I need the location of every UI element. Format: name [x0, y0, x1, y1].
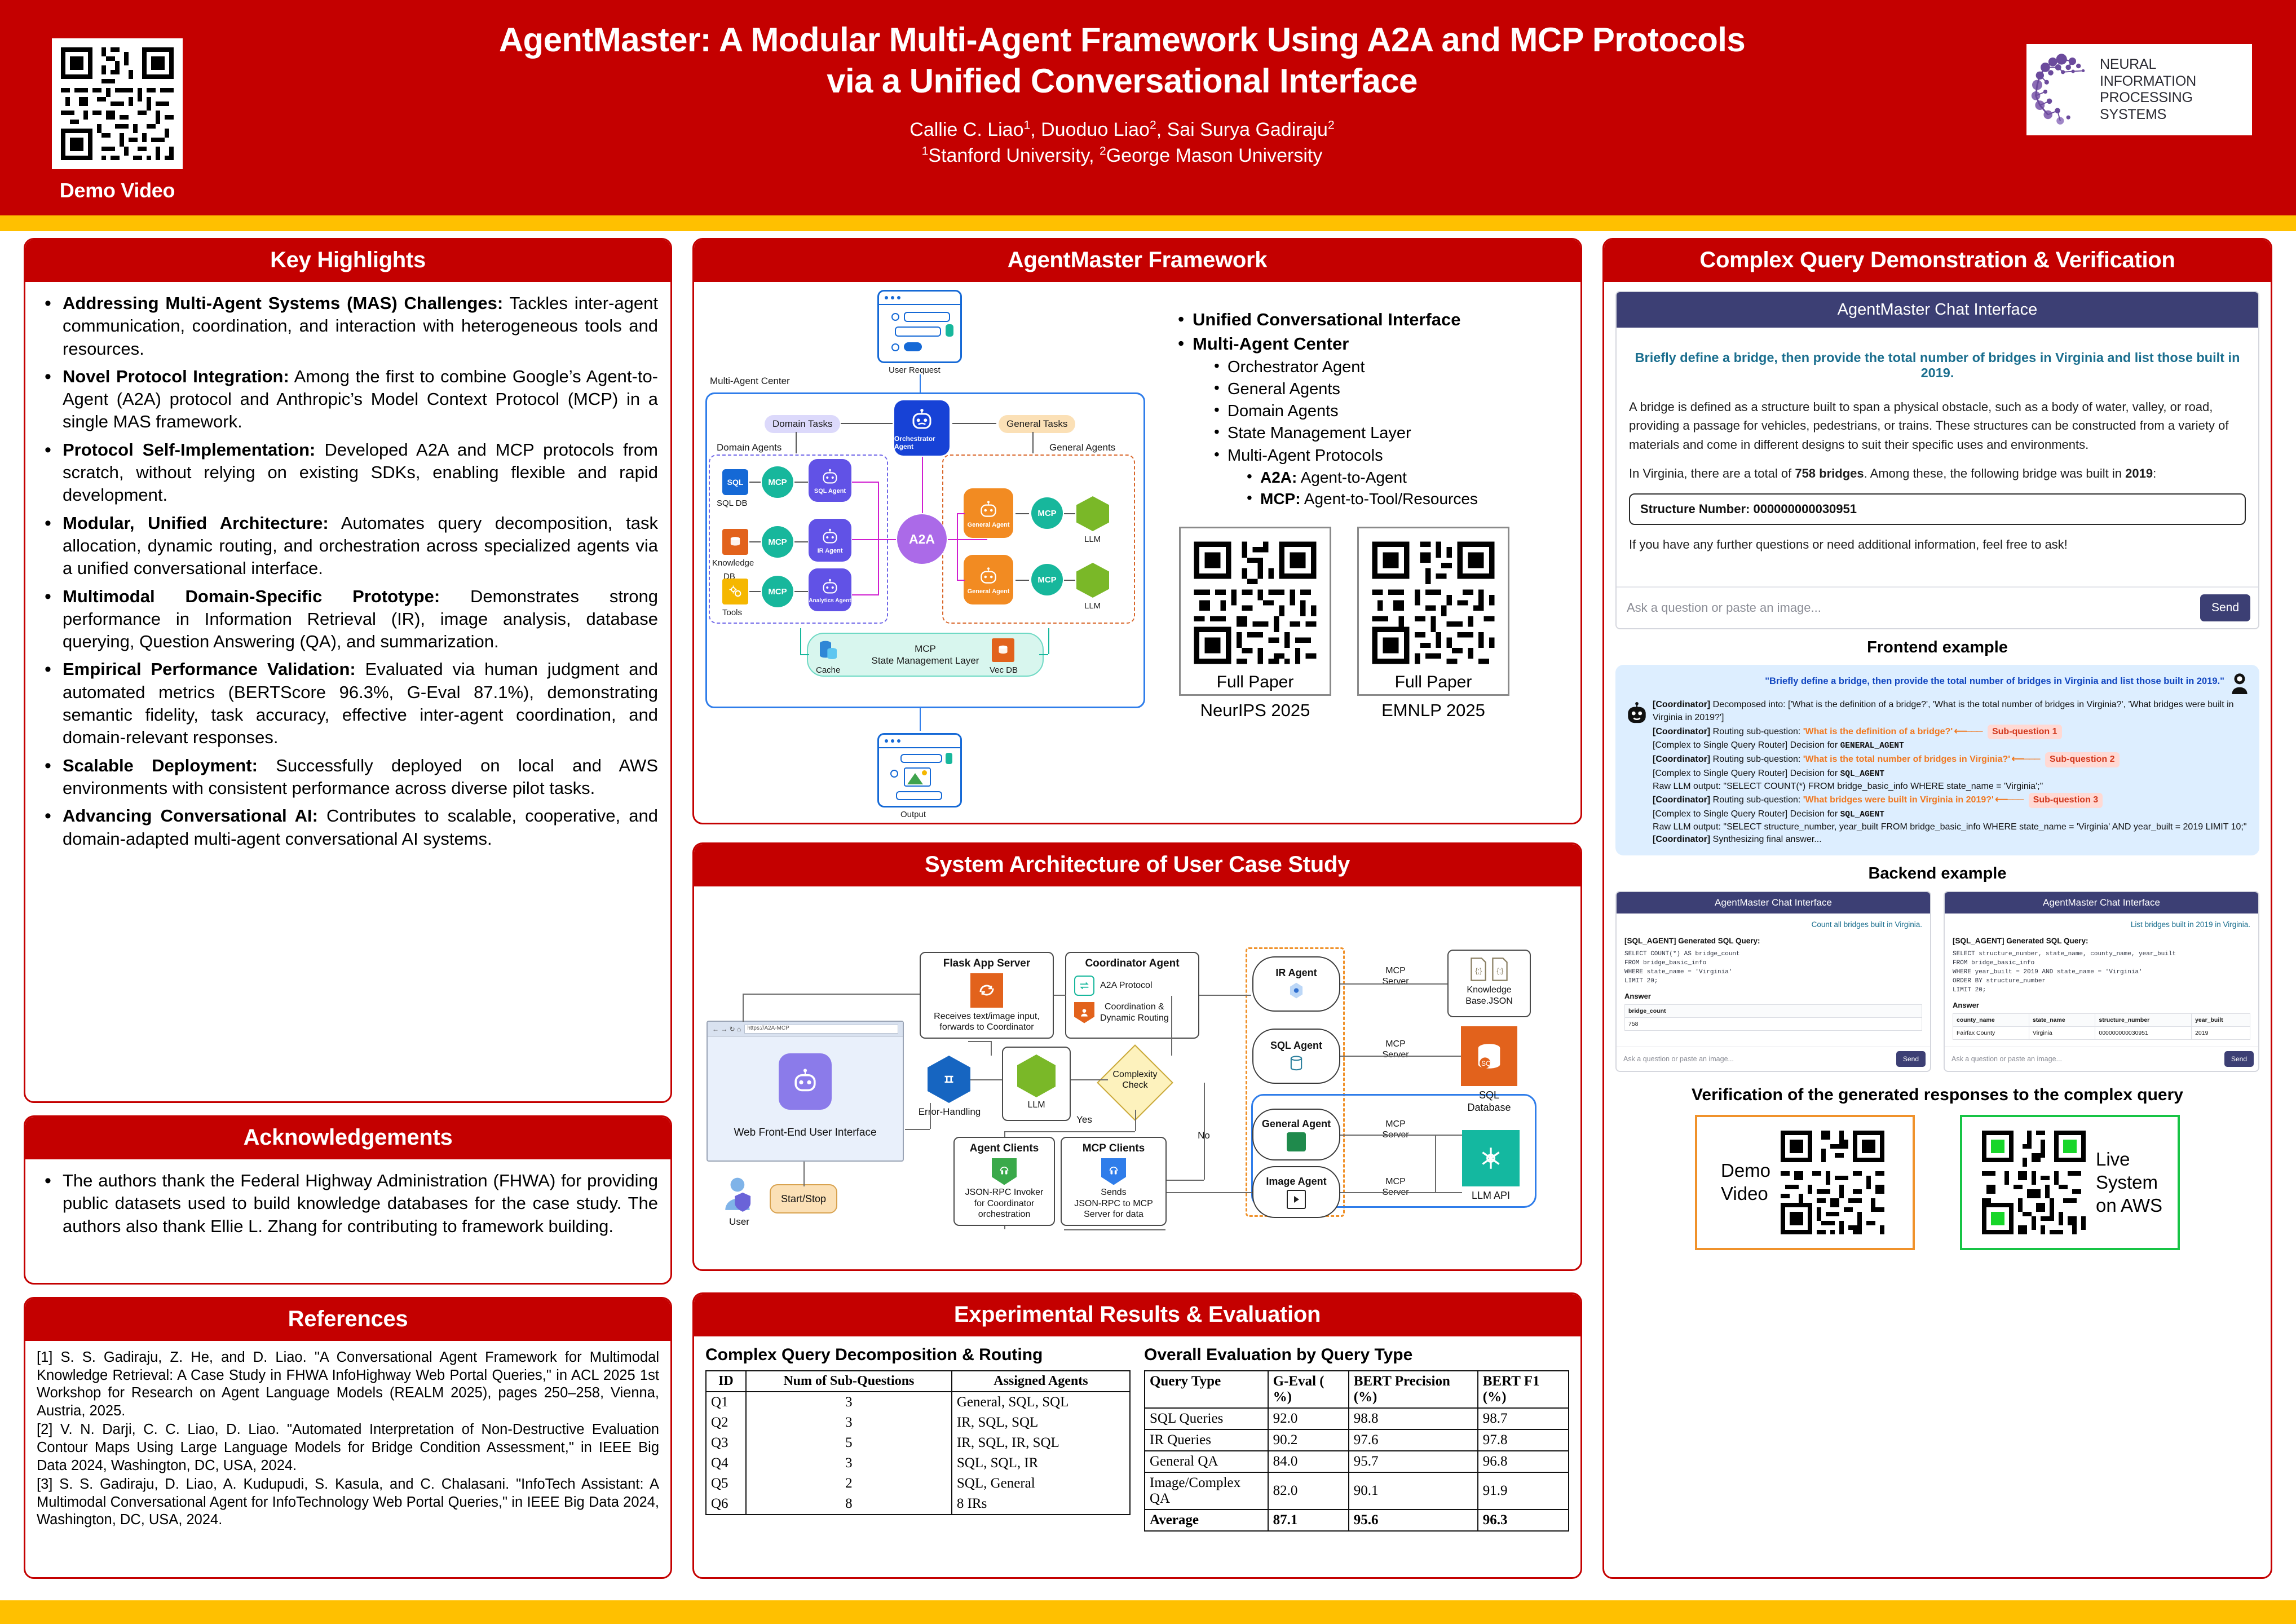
backend-trace-lines: [Coordinator] Decomposed into: ['What is…	[1653, 699, 2249, 846]
list-item-lead: Modular, Unified Architecture:	[63, 513, 329, 533]
table-cell: Q3	[706, 1433, 746, 1453]
user-node: User	[717, 1175, 762, 1228]
verification-chat-2-sql: SELECT structure_number, state_name, cou…	[1953, 950, 2250, 995]
llm-label: LLM	[1027, 1100, 1045, 1111]
general-agent-node-1: General Agent	[964, 488, 1013, 538]
flask-app-server-node: Flask App Server Receives text/image inp…	[920, 952, 1054, 1039]
neurips-mark-icon	[2030, 52, 2099, 127]
frontend-answer-p1: A bridge is defined as a structure built…	[1629, 398, 2246, 454]
table-cell: 3	[746, 1413, 952, 1433]
verification-col-header: state_name	[2029, 1013, 2095, 1026]
table-cell: 95.7	[1349, 1451, 1478, 1472]
table-cell: 95.6	[1349, 1510, 1478, 1531]
sml-title: MCP	[872, 643, 979, 655]
backend-trace-line: [Complex to Single Query Router] Decisio…	[1653, 767, 2249, 780]
paper-qr-caption-neurips: Full Paper	[1189, 673, 1322, 692]
backend-example-caption: Backend example	[1615, 864, 2259, 883]
table-row: Q52SQL, General	[706, 1473, 1130, 1494]
label-domain-agents: Domain Agents	[717, 442, 781, 453]
paper-qr-row: Full Paper	[1173, 527, 1575, 696]
knowledge-base-label: KnowledgeBase.JSON	[1465, 985, 1513, 1007]
table-row: SQL Queries92.098.898.7	[1145, 1408, 1569, 1429]
mcp-node-sql: MCP	[762, 466, 793, 498]
verification-chat-1-sql: SELECT COUNT(*) AS bridge_count FROM bri…	[1624, 950, 1922, 986]
table-row: General QA84.095.796.8	[1145, 1451, 1569, 1472]
list-item: Advancing Conversational AI: Contributes…	[38, 805, 658, 850]
table-cell: 2019	[2192, 1026, 2250, 1039]
verification-chat-2-title: AgentMaster Chat Interface	[1945, 892, 2258, 913]
neurips-logo: NEURAL INFORMATION PROCESSING SYSTEMS	[2026, 44, 2252, 135]
table-cell: 97.6	[1349, 1429, 1478, 1451]
panel-experiments-title: Experimental Results & Evaluation	[694, 1294, 1580, 1336]
table-row: 758	[1625, 1017, 1922, 1030]
table-cell: 758	[1625, 1017, 1922, 1030]
panel-complex-query: Complex Query Demonstration & Verificati…	[1602, 238, 2272, 1579]
table1-col-header: Num of Sub-Questions	[746, 1371, 952, 1392]
table-cell: Q6	[706, 1494, 746, 1515]
backend-trace-line: [Complex to Single Query Router] Decisio…	[1653, 808, 2249, 821]
mcp-server-label-general: MCPServer	[1368, 1119, 1423, 1140]
table-row: Q43SQL, SQL, IR	[706, 1453, 1130, 1473]
frontend-user-question: Briefly define a bridge, then provide th…	[1629, 350, 2246, 381]
orchestrator-agent-label: Orchestrator Agent	[894, 435, 950, 451]
list-item-lead: Empirical Performance Validation:	[63, 659, 356, 679]
mcp-server-label-image: MCPServer	[1368, 1176, 1423, 1198]
table-cell: SQL, General	[952, 1473, 1130, 1494]
label-cache: Cache	[816, 665, 840, 675]
label-general-agents: General Agents	[1049, 442, 1115, 453]
analytics-agent-node: Analytics Agent	[809, 568, 851, 611]
table2-col-header: G-Eval ( %)	[1268, 1371, 1349, 1408]
backend-trace-panel: "Briefly define a bridge, then provide t…	[1615, 665, 2259, 855]
vec-db-icon	[992, 638, 1014, 662]
label-user-request: User Request	[889, 365, 941, 375]
reference-item: [3] S. S. Gadiraju, D. Liao, A. Kudupudi…	[37, 1476, 659, 1529]
general-agent-label-2: General Agent	[968, 588, 1010, 595]
table1-title: Complex Query Decomposition & Routing	[705, 1345, 1131, 1365]
demo-video-qr-label: Demo Video	[1721, 1159, 1770, 1206]
overall-evaluation-table: Query TypeG-Eval ( %)BERT Precision (%)B…	[1144, 1370, 1569, 1532]
yes-label: Yes	[1062, 1114, 1107, 1126]
paper-qr-box-emnlp[interactable]: Full Paper	[1357, 527, 1509, 696]
table2-title: Overall Evaluation by Query Type	[1144, 1345, 1569, 1365]
list-item: Protocol Self-Implementation: Developed …	[38, 439, 658, 507]
panel-acknowledgements: Acknowledgements The authors thank the F…	[24, 1115, 672, 1285]
list-item: Scalable Deployment: Successfully deploy…	[38, 754, 658, 800]
panel-system-architecture: System Architecture of User Case Study ←…	[692, 842, 1582, 1271]
ir-agent-label: IR Agent	[818, 548, 843, 554]
verification-chat-pair: AgentMaster Chat Interface Count all bri…	[1615, 891, 2259, 1072]
query-decomposition-table: IDNum of Sub-QuestionsAssigned Agents Q1…	[705, 1370, 1131, 1515]
frontend-send-button[interactable]: Send	[2200, 594, 2250, 621]
frontend-chat-window: AgentMaster Chat Interface Briefly defin…	[1615, 291, 2259, 629]
agent-clients-desc: JSON-RPC Invokerfor Coordinatororchestra…	[965, 1187, 1044, 1220]
panel-system-arch-title: System Architecture of User Case Study	[694, 844, 1580, 886]
sql-agent-node: SQL Agent	[1252, 1029, 1340, 1084]
panel-framework-title: AgentMaster Framework	[694, 240, 1580, 282]
panel-acknowledgements-title: Acknowledgements	[25, 1117, 670, 1159]
fw-sub-state-mgmt: State Management Layer	[1209, 423, 1575, 443]
backend-annotation: Sub-question 2	[2045, 752, 2120, 767]
llm-node: LLM	[1002, 1047, 1071, 1121]
fw-sub-orchestrator: Orchestrator Agent	[1209, 357, 1575, 377]
backend-trace-line: [Coordinator] Routing sub-question: 'Wha…	[1653, 725, 2249, 740]
cache-icon	[817, 638, 840, 663]
image-agent-node: Image Agent	[1252, 1166, 1340, 1218]
table-cell: 84.0	[1268, 1451, 1349, 1472]
panel-references: References [1] S. S. Gadiraju, Z. He, an…	[24, 1297, 672, 1579]
general-agent-node: General Agent	[1252, 1109, 1340, 1160]
verification-chat-1-input[interactable]: Ask a question or paste an image...	[1623, 1055, 1896, 1063]
table-cell: Virginia	[2029, 1026, 2095, 1039]
mcp-server-label-sql: MCPServer	[1368, 1039, 1423, 1060]
table-cell: Image/Complex QA	[1145, 1472, 1268, 1510]
label-vec-db: Vec DB	[990, 665, 1018, 675]
mcp-node-analytics: MCP	[762, 576, 793, 607]
table-cell: 98.8	[1349, 1408, 1478, 1429]
neurips-logo-text: NEURAL INFORMATION PROCESSING SYSTEMS	[2100, 56, 2246, 123]
table-cell: 91.9	[1478, 1472, 1569, 1510]
verification-caption: Verification of the generated responses …	[1615, 1085, 2259, 1105]
frontend-example-caption: Frontend example	[1615, 638, 2259, 657]
label-tools: Tools	[722, 608, 742, 617]
table-row: Q23IR, SQL, SQL	[706, 1413, 1130, 1433]
tools-icon	[722, 579, 748, 604]
list-item: Addressing Multi-Agent Systems (MAS) Cha…	[38, 292, 658, 360]
backend-trace-line: [Coordinator] Synthesizing final answer.…	[1653, 833, 2249, 846]
panel-agentmaster-framework: AgentMaster Framework User Request Multi…	[692, 238, 1582, 824]
web-frontend-label: Web Front-End User Interface	[708, 1127, 903, 1139]
backend-annotation: Sub-question 1	[1988, 725, 2062, 740]
table-cell: 000000000030951	[2095, 1026, 2192, 1039]
backend-trace-line: Raw LLM output: "SELECT structure_number…	[1653, 821, 2249, 834]
table-cell: General, SQL, SQL	[952, 1392, 1130, 1413]
bot-avatar-icon	[1626, 701, 1648, 726]
table-cell: IR, SQL, IR, SQL	[952, 1433, 1130, 1453]
paper-qr-box-neurips[interactable]: Full Paper	[1179, 527, 1331, 696]
framework-diagram: User Request Multi-Agent Center Orchestr…	[700, 290, 1168, 820]
system-architecture-diagram: ← → ↻ ⌂ https://A2A-MCP Web Front-End Us…	[703, 893, 1571, 1232]
table-cell: IR, SQL, SQL	[952, 1413, 1130, 1433]
table-cell: Q2	[706, 1413, 746, 1433]
table1-col-header: Assigned Agents	[952, 1371, 1130, 1392]
header-demo-qr-block: Demo Video	[50, 38, 185, 202]
start-stop-node[interactable]: Start/Stop	[770, 1184, 837, 1213]
web-frontend-node: ← → ↻ ⌂ https://A2A-MCP Web Front-End Us…	[707, 1021, 904, 1162]
backend-annotation: Sub-question 3	[2029, 793, 2103, 808]
panel-references-title: References	[25, 1299, 670, 1341]
verification-chat-2-question: List bridges built in 2019 in Virginia.	[1953, 920, 2250, 929]
ir-agent-node: IR Agent	[1252, 956, 1340, 1012]
footer-accent-bar	[0, 1600, 2296, 1624]
user-request-screen-icon	[877, 290, 962, 363]
table-cell: 96.3	[1478, 1510, 1569, 1531]
table-cell: 87.1	[1268, 1510, 1349, 1531]
frontend-chat-input[interactable]: Ask a question or paste an image...	[1627, 601, 2200, 615]
mcp-node-ir: MCP	[762, 526, 793, 558]
knowledge-db-icon	[722, 529, 748, 555]
fw-sub-general-agents: General Agents	[1209, 379, 1575, 399]
error-handling-label: Error-Handling	[913, 1106, 986, 1118]
framework-bullet-list: Unified Conversational Interface Multi-A…	[1173, 309, 1575, 509]
demo-video-qr-icon-bottom[interactable]	[1776, 1126, 1889, 1239]
verification-col-header: bridge_count	[1625, 1004, 1922, 1017]
venue-neurips: NeurIPS 2025	[1179, 700, 1331, 721]
frontend-chat-title: AgentMaster Chat Interface	[1617, 292, 2258, 328]
table-cell: 90.1	[1349, 1472, 1478, 1510]
neurips-logo-line2: PROCESSING SYSTEMS	[2100, 90, 2246, 123]
label-knowledge-db-1: Knowledge	[712, 558, 754, 568]
sql-database-icon: SQL	[1461, 1026, 1517, 1086]
domain-tasks-pill: Domain Tasks	[765, 415, 840, 433]
llm-api-icon	[1462, 1130, 1520, 1186]
panel-complex-query-title: Complex Query Demonstration & Verificati…	[1604, 240, 2271, 282]
backend-trace-line: [Complex to Single Query Router] Decisio…	[1653, 739, 2249, 752]
structure-number-box: Structure Number: 000000000030951	[1629, 493, 2246, 525]
verification-chat-2-input[interactable]: Ask a question or paste an image...	[1951, 1055, 2224, 1063]
table1-col-header: ID	[706, 1371, 746, 1392]
svg-text:SQL: SQL	[1481, 1060, 1495, 1067]
panel-experimental-results: Experimental Results & Evaluation Comple…	[692, 1292, 1582, 1579]
frontend-answer-p3: If you have any further questions or nee…	[1629, 535, 2246, 554]
coordinator-row1: A2A Protocol	[1100, 980, 1153, 991]
reference-item: [2] V. N. Darji, C. C. Liao, D. Liao. "A…	[37, 1421, 659, 1475]
table-cell: Q5	[706, 1473, 746, 1494]
table2-header-row: Query TypeG-Eval ( %)BERT Precision (%)B…	[1145, 1371, 1569, 1408]
header-accent-bar	[0, 215, 2296, 231]
verification-chat-1-answer-label: Answer	[1624, 992, 1922, 1000]
user-label: User	[717, 1216, 762, 1228]
flask-title: Flask App Server	[943, 957, 1031, 970]
verification-chat-1-agent-label: [SQL_AGENT] Generated SQL Query:	[1624, 937, 1922, 945]
list-item: Empirical Performance Validation: Evalua…	[38, 658, 658, 749]
references-list: [1] S. S. Gadiraju, Z. He, and D. Liao. …	[37, 1349, 659, 1529]
neurips-logo-line1: NEURAL INFORMATION	[2100, 56, 2246, 90]
knowledge-base-node: {;} {;} KnowledgeBase.JSON	[1447, 950, 1531, 1017]
table-cell: 5	[746, 1433, 952, 1453]
web-url-field[interactable]: https://A2A-MCP	[744, 1025, 898, 1034]
verification-chat-2-table: county_namestate_namestructure_numberyea…	[1953, 1013, 2250, 1040]
backend-trace-line: [Coordinator] Routing sub-question: 'Wha…	[1653, 752, 2249, 767]
emnlp-paper-qr-icon[interactable]	[1367, 536, 1500, 669]
list-item: The authors thank the Federal Highway Ad…	[38, 1170, 658, 1238]
coordinator-row2: Coordination &Dynamic Routing	[1100, 1001, 1169, 1023]
verification-col-header: structure_number	[2095, 1013, 2192, 1026]
error-handling-icon	[928, 1056, 970, 1103]
verification-chat-1-question: Count all bridges built in Virginia.	[1624, 920, 1922, 929]
frontend-answer-p2: In Virginia, there are a total of 758 br…	[1629, 464, 2246, 483]
flask-desc: Receives text/image input,forwards to Co…	[934, 1011, 1040, 1033]
author-list: Callie C. Liao1, Duoduo Liao2, Sai Surya…	[226, 117, 2019, 143]
table-cell: 97.8	[1478, 1429, 1569, 1451]
verification-col-header: county_name	[1953, 1013, 2029, 1026]
a2a-hub-node: A2A	[897, 514, 947, 564]
mcp-clients-desc: SendsJSON-RPC to MCPServer for data	[1074, 1187, 1153, 1220]
title-line-2: via a Unified Conversational Interface	[827, 62, 1418, 100]
list-item-lead: Scalable Deployment:	[63, 756, 258, 775]
table-cell: IR Queries	[1145, 1429, 1268, 1451]
table1-block: Complex Query Decomposition & Routing ID…	[705, 1345, 1131, 1532]
page-title: AgentMaster: A Modular Multi-Agent Frame…	[226, 19, 2019, 101]
table-cell: 98.7	[1478, 1408, 1569, 1429]
table-row: Q688 IRs	[706, 1494, 1130, 1515]
demo-video-qr-icon[interactable]	[52, 38, 183, 169]
verification-chat-1: AgentMaster Chat Interface Count all bri…	[1615, 891, 1931, 1072]
user-avatar-icon	[2230, 673, 2249, 694]
panel-key-highlights-title: Key Highlights	[25, 240, 670, 282]
venue-emnlp: EMNLP 2025	[1357, 700, 1509, 721]
table-cell: 90.2	[1268, 1429, 1349, 1451]
table2-col-header: BERT Precision (%)	[1349, 1371, 1478, 1408]
table2-col-header: BERT F1 (%)	[1478, 1371, 1569, 1408]
mcp-node-general-2: MCP	[1031, 564, 1063, 595]
mcp-clients-node: MCP Clients SendsJSON-RPC to MCPServer f…	[1061, 1137, 1167, 1226]
sql-agent-label: SQL Agent	[814, 488, 846, 495]
title-line-1: AgentMaster: A Modular Multi-Agent Frame…	[499, 21, 1745, 59]
key-highlights-list: Addressing Multi-Agent Systems (MAS) Cha…	[38, 292, 658, 850]
verification-col-header: year_built	[2192, 1013, 2250, 1026]
table-row: Fairfax CountyVirginia000000000030951201…	[1953, 1026, 2250, 1039]
table-cell: General QA	[1145, 1451, 1268, 1472]
list-item-lead: Protocol Self-Implementation:	[63, 440, 315, 460]
label-multi-agent-center: Multi-Agent Center	[710, 376, 790, 387]
sql-db-icon: SQL	[722, 469, 748, 495]
label-output: Output	[900, 810, 926, 819]
general-agent-label-1: General Agent	[968, 522, 1010, 528]
verification-chat-1-table: bridge_count 758	[1624, 1004, 1922, 1031]
live-system-qr-icon[interactable]	[1977, 1126, 2090, 1239]
backend-trace-line: [Coordinator] Decomposed into: ['What is…	[1653, 699, 2249, 724]
neurips-paper-qr-icon[interactable]	[1189, 536, 1322, 669]
verification-chat-1-send[interactable]: Send	[1896, 1051, 1926, 1067]
demo-video-label: Demo Video	[50, 179, 185, 202]
ir-agent-node: IR Agent	[809, 519, 851, 562]
sql-agent-node: SQL Agent	[809, 459, 851, 502]
table-cell: 3	[746, 1392, 952, 1413]
paper-venue-row: NeurIPS 2025 EMNLP 2025	[1173, 700, 1575, 721]
live-system-qr-box[interactable]: Live System on AWS	[1960, 1115, 2180, 1250]
mcp-node-general-1: MCP	[1031, 497, 1063, 529]
sml-subtitle: State Management Layer	[872, 655, 979, 667]
mcp-clients-title: MCP Clients	[1083, 1142, 1145, 1155]
acknowledgements-list: The authors thank the Federal Highway Ad…	[38, 1170, 658, 1238]
sql-database-label: SQLDatabase	[1461, 1089, 1517, 1114]
table-cell: 92.0	[1268, 1408, 1349, 1429]
backend-user-quote: "Briefly define a bridge, then provide t…	[1765, 673, 2224, 687]
list-item-lead: Multimodal Domain-Specific Prototype:	[63, 586, 440, 606]
complexity-check-label: ComplexityCheck	[1107, 1069, 1163, 1091]
list-item-lead: Addressing Multi-Agent Systems (MAS) Cha…	[63, 293, 503, 313]
coordinator-agent-node: Coordinator Agent A2A Protocol Coordinat…	[1065, 952, 1199, 1039]
list-item-lead: Novel Protocol Integration:	[63, 367, 289, 386]
list-item: Novel Protocol Integration: Among the fi…	[38, 365, 658, 434]
output-screen-icon	[877, 733, 962, 807]
list-item: Modular, Unified Architecture: Automates…	[38, 512, 658, 580]
general-agent-node-2: General Agent	[964, 555, 1013, 604]
reference-item: [1] S. S. Gadiraju, Z. He, and D. Liao. …	[37, 1349, 659, 1420]
svg-text:{;}: {;}	[1496, 967, 1503, 975]
verification-chat-2-agent-label: [SQL_AGENT] Generated SQL Query:	[1953, 937, 2250, 945]
agent-clients-node: Agent Clients JSON-RPC Invokerfor Coordi…	[953, 1137, 1055, 1226]
label-sql-db: SQL DB	[717, 498, 747, 508]
fw-sub-domain-agents: Domain Agents	[1209, 401, 1575, 421]
analytics-agent-label: Analytics Agent	[809, 598, 851, 604]
fw-sub-mcp: MCP: Agent-to-Tool/Resources	[1242, 489, 1575, 509]
verification-chat-2-send[interactable]: Send	[2224, 1051, 2254, 1067]
table-row: Q13General, SQL, SQL	[706, 1392, 1130, 1413]
list-item-text: The authors thank the Federal Highway Ad…	[63, 1171, 658, 1236]
paper-qr-caption-emnlp: Full Paper	[1367, 673, 1500, 692]
table-cell: Average	[1145, 1510, 1268, 1531]
backend-trace-line: Raw LLM output: "SELECT COUNT(*) FROM br…	[1653, 780, 2249, 793]
table-row: Q35IR, SQL, IR, SQL	[706, 1433, 1130, 1453]
poster-header: Demo Video AgentMaster: A Modular Multi-…	[0, 0, 2296, 215]
backend-trace-line: [Coordinator] Routing sub-question: 'Wha…	[1653, 793, 2249, 808]
fw-bullet-unified: Unified Conversational Interface	[1173, 309, 1575, 331]
table2-col-header: Query Type	[1145, 1371, 1268, 1408]
list-item-lead: Advancing Conversational AI:	[63, 806, 318, 826]
label-llm-1: LLM	[1084, 535, 1101, 544]
affiliations: 1Stanford University, 2George Mason Univ…	[226, 143, 2019, 169]
table-cell: 96.8	[1478, 1451, 1569, 1472]
llm-api-label: LLM API	[1462, 1190, 1520, 1202]
table-row: Average87.195.696.3	[1145, 1510, 1569, 1531]
panel-key-highlights: Key Highlights Addressing Multi-Agent Sy…	[24, 238, 672, 1103]
table-cell: 8 IRs	[952, 1494, 1130, 1515]
table-cell: 82.0	[1268, 1472, 1349, 1510]
general-tasks-pill: General Tasks	[999, 415, 1075, 433]
fw-bullet-mac: Multi-Agent Center Orchestrator Agent Ge…	[1173, 333, 1575, 509]
title-block: AgentMaster: A Modular Multi-Agent Frame…	[226, 19, 2019, 169]
coordinator-title: Coordinator Agent	[1071, 957, 1194, 970]
table-cell: Q4	[706, 1453, 746, 1473]
table-cell: 2	[746, 1473, 952, 1494]
table-cell: SQL, SQL, IR	[952, 1453, 1130, 1473]
label-llm-2: LLM	[1084, 601, 1101, 611]
fw-sub-protocols: Multi-Agent Protocols A2A: Agent-to-Agen…	[1209, 445, 1575, 509]
demo-video-qr-box[interactable]: Demo Video	[1695, 1115, 1915, 1250]
fw-sub-a2a: A2A: Agent-to-Agent	[1242, 467, 1575, 487]
table-cell: 8	[746, 1494, 952, 1515]
table-cell: 3	[746, 1453, 952, 1473]
orchestrator-agent-node: Orchestrator Agent	[894, 400, 950, 456]
live-system-qr-label: Live System on AWS	[2096, 1148, 2162, 1217]
table2-block: Overall Evaluation by Query Type Query T…	[1144, 1345, 1569, 1532]
table1-header-row: IDNum of Sub-QuestionsAssigned Agents	[706, 1371, 1130, 1392]
table-cell: SQL Queries	[1145, 1408, 1268, 1429]
demo-qr-row: Demo Video	[1615, 1115, 2259, 1250]
table-row: Image/Complex QA82.090.191.9	[1145, 1472, 1569, 1510]
agent-clients-title: Agent Clients	[970, 1142, 1039, 1155]
verification-chat-1-title: AgentMaster Chat Interface	[1617, 892, 1930, 913]
svg-text:{;}: {;}	[1475, 967, 1482, 975]
verification-chat-2-answer-label: Answer	[1953, 1001, 2250, 1009]
table-row: IR Queries90.297.697.8	[1145, 1429, 1569, 1451]
verification-chat-2: AgentMaster Chat Interface List bridges …	[1944, 891, 2259, 1072]
list-item: Multimodal Domain-Specific Prototype: De…	[38, 585, 658, 654]
table-cell: Q1	[706, 1392, 746, 1413]
table-cell: Fairfax County	[1953, 1026, 2029, 1039]
